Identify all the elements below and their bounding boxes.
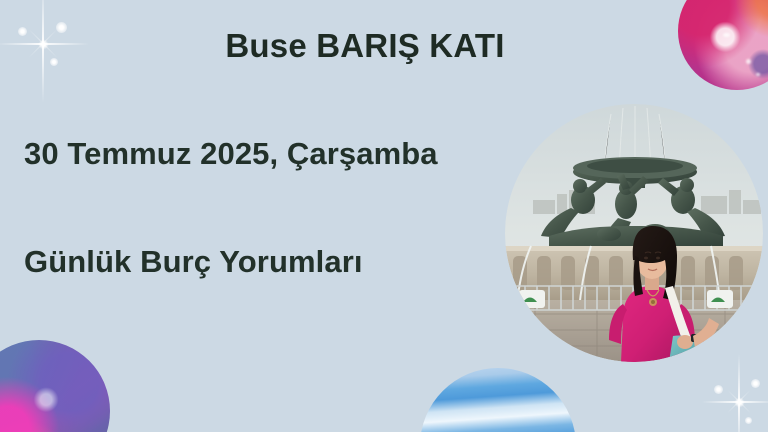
sparkle-icon	[745, 417, 752, 424]
purple-galaxy-planet-icon	[0, 340, 110, 432]
portrait-photo	[505, 104, 763, 362]
date-line: 30 Temmuz 2025, Çarşamba	[24, 136, 438, 172]
sparkle-icon	[751, 379, 760, 388]
sparkle-icon	[738, 401, 740, 403]
subject-line: Günlük Burç Yorumları	[24, 244, 363, 280]
sparkle-icon	[714, 385, 723, 394]
poster-canvas: Buse BARIŞ KATI 30 Temmuz 2025, Çarşamba…	[0, 0, 768, 432]
page-title: Buse BARIŞ KATI	[0, 27, 730, 65]
blue-watercolor-planet-icon	[420, 368, 576, 432]
